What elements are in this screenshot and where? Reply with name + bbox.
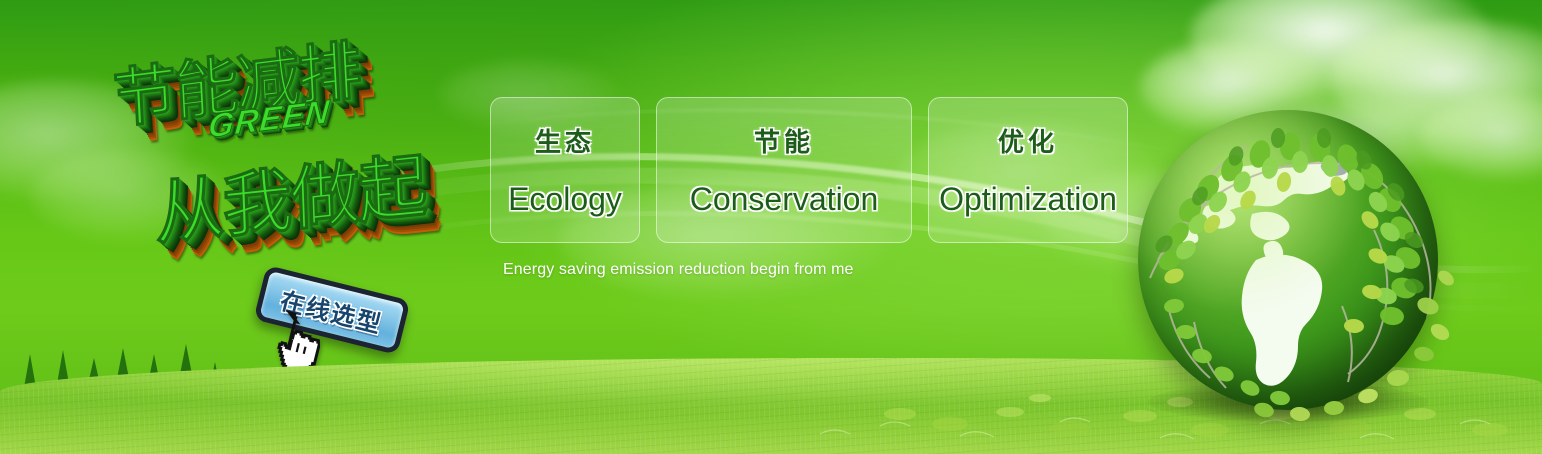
green-energy-banner: 节能减排 GREEN 从我做起 生态 Ecology 节能 Conservati… xyxy=(0,0,1542,454)
online-selection-cta[interactable]: 在线选型 xyxy=(258,272,428,364)
headline-3d-text: 节能减排 GREEN 从我做起 xyxy=(92,34,492,274)
feature-card-optimization[interactable]: 优化 Optimization xyxy=(928,97,1128,243)
feature-card-cn-label: 优化 xyxy=(998,122,1058,159)
feature-card-ecology[interactable]: 生态 Ecology xyxy=(490,97,640,243)
headline-line-3: 从我做起 xyxy=(153,130,427,260)
cloud-icon xyxy=(1190,0,1490,102)
feature-card-cn-label: 生态 xyxy=(535,122,595,159)
feature-cards: 生态 Ecology 节能 Conservation 优化 Optimizati… xyxy=(490,97,1128,243)
feature-card-conservation[interactable]: 节能 Conservation xyxy=(656,97,912,243)
leafy-green-earth-globe xyxy=(1128,110,1458,440)
feature-card-en-label: Conservation xyxy=(690,181,879,218)
feature-card-cn-label: 节能 xyxy=(754,122,814,159)
cloud-icon xyxy=(0,80,190,200)
headline-line-1: 节能减排 xyxy=(111,19,362,141)
feature-card-en-label: Optimization xyxy=(939,181,1117,218)
headline-line-2-green: GREEN xyxy=(207,92,332,146)
pointing-hand-cursor-icon xyxy=(260,310,320,372)
banner-subtitle: Energy saving emission reduction begin f… xyxy=(503,261,854,279)
cloud-icon xyxy=(30,150,230,240)
globe-details xyxy=(1128,110,1458,440)
feature-card-en-label: Ecology xyxy=(508,181,622,218)
